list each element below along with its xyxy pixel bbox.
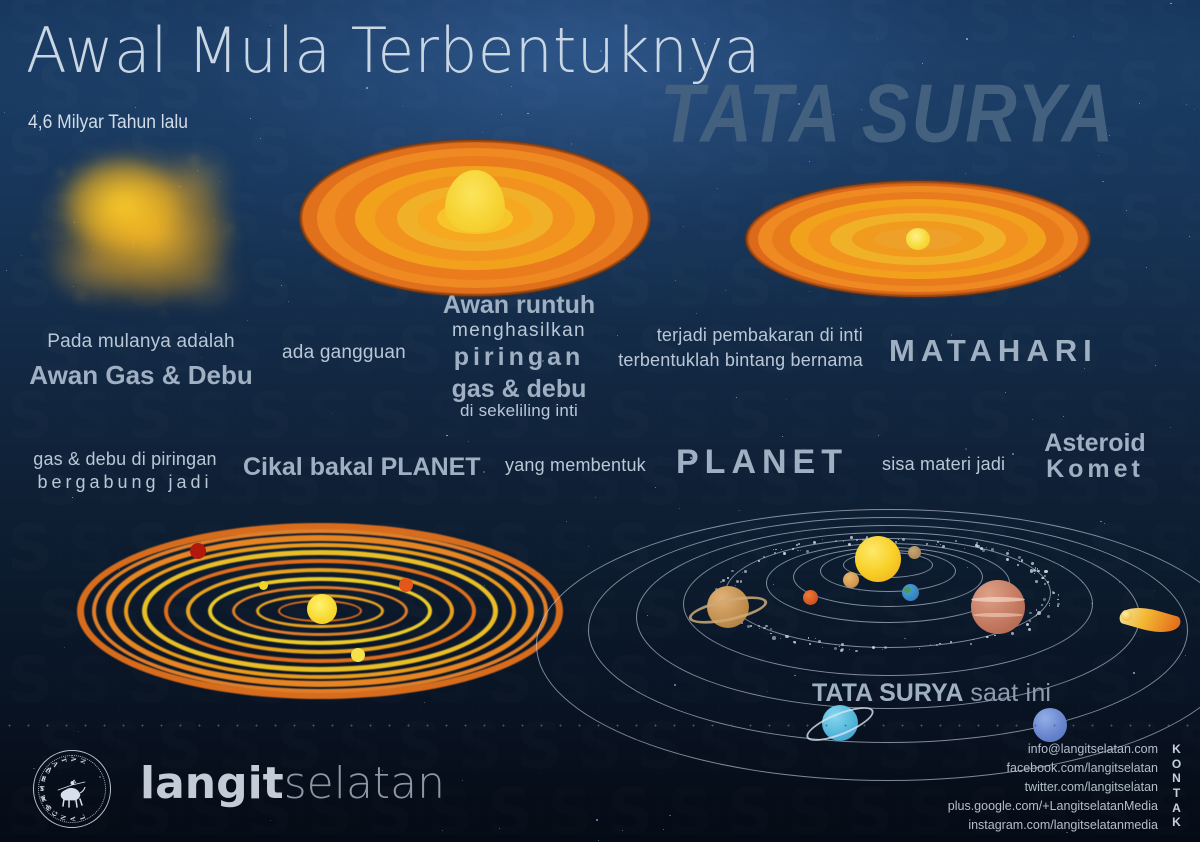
page-title: Awal Mula Terbentuknya bbox=[26, 20, 761, 82]
stage1-line2: Awan Gas & Debu bbox=[29, 360, 252, 391]
contact-item[interactable]: twitter.com/langitselatan bbox=[948, 778, 1158, 797]
nebula-gas-cloud-icon bbox=[14, 118, 272, 346]
brand-light: selatan bbox=[284, 758, 445, 809]
stage5-line2: bergabung jadi bbox=[37, 472, 212, 493]
contact-item[interactable]: info@langitselatan.com bbox=[948, 740, 1158, 759]
page-subtitle: 4,6 Milyar Tahun lalu bbox=[28, 112, 188, 134]
solar-caption-thin: saat ini bbox=[970, 679, 1051, 707]
stage3-line4: gas & debu bbox=[452, 375, 587, 404]
stage7-line1: yang membentuk bbox=[505, 455, 646, 476]
stage5-line1: gas & debu di piringan bbox=[33, 449, 217, 470]
contact-item[interactable]: facebook.com/langitselatan bbox=[948, 759, 1158, 778]
protoplanetary-disk-icon bbox=[75, 515, 565, 700]
stage4-line2: terbentuklah bintang bernama bbox=[613, 350, 863, 371]
stage1-line1: Pada mulanya adalah bbox=[47, 331, 235, 353]
stage4-line1: terjadi pembakaran di inti bbox=[633, 325, 863, 346]
stage3-line5: di sekeliling inti bbox=[460, 401, 578, 421]
stage9-line1: sisa materi jadi bbox=[882, 454, 1005, 475]
stage10-line1: Asteroid bbox=[1044, 429, 1145, 458]
langitselatan-logo-icon: LANGITSELATANORTSA bbox=[33, 750, 111, 828]
brand-wordmark: langitselatan bbox=[140, 762, 445, 806]
stage10-line2: Komet bbox=[1046, 455, 1144, 484]
contact-item[interactable]: plus.google.com/+LangitselatanMedia bbox=[948, 797, 1158, 816]
stage4-label-matahari: MATAHARI bbox=[889, 333, 1098, 369]
solar-caption-bold: TATA SURYA bbox=[812, 679, 963, 707]
kontak-label: KONTAK bbox=[1170, 742, 1184, 830]
brand-bold: langit bbox=[140, 758, 284, 809]
stage3-line1: Awan runtuh bbox=[443, 291, 595, 320]
nebula-grain-overlay bbox=[14, 118, 272, 346]
page-title-accent: TATA SURYA bbox=[660, 72, 1115, 155]
stage3-line3: piringan bbox=[454, 343, 585, 372]
collapsing-cloud-disk-icon bbox=[300, 140, 650, 290]
stage8-label-planet: PLANET bbox=[676, 443, 848, 482]
stage6-label-cikal-bakal-planet: Cikal bakal PLANET bbox=[243, 453, 481, 482]
protostar-disk-icon bbox=[745, 178, 1090, 296]
stage2-line1: ada gangguan bbox=[282, 342, 406, 364]
sagittarius-centaur-icon bbox=[52, 771, 92, 811]
infographic-poster: SSSSSSSSSSSSSSSSSSSSSSSSSSSSSSSSSSSSSSSS… bbox=[0, 0, 1200, 842]
footer-divider bbox=[0, 724, 1200, 727]
contact-list: info@langitselatan.comfacebook.com/langi… bbox=[948, 740, 1158, 835]
contact-item[interactable]: instagram.com/langitselatanmedia bbox=[948, 816, 1158, 835]
stage3-line2: menghasilkan bbox=[452, 320, 586, 342]
